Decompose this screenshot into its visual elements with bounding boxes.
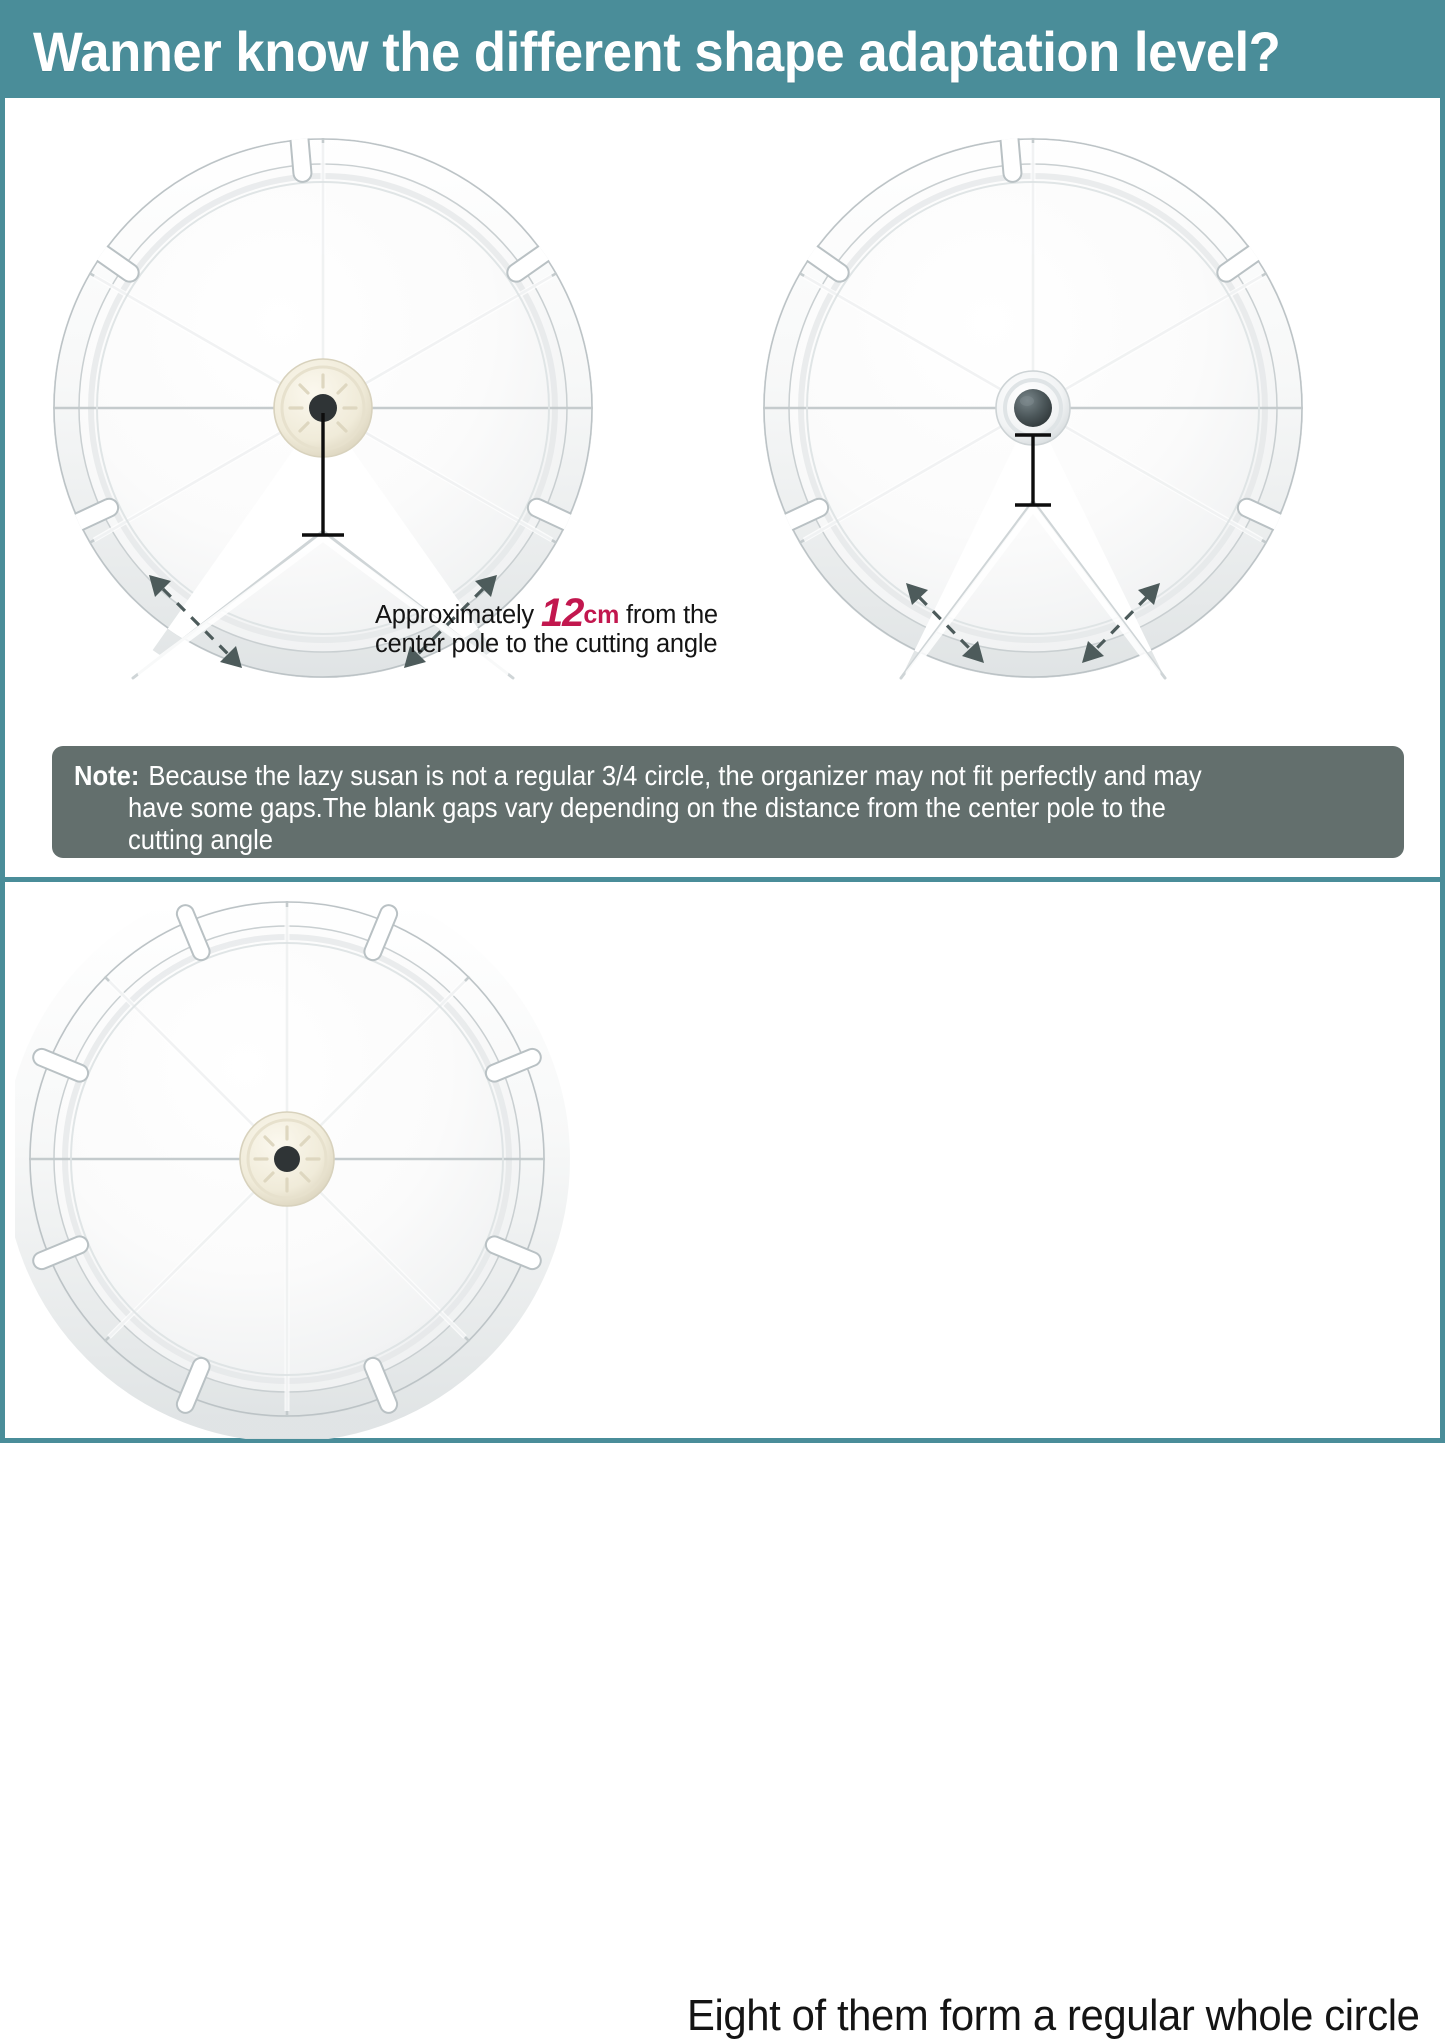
center-pole-hole: [1014, 389, 1052, 427]
note-line-1: Because the lazy susan is not a regular …: [146, 760, 1201, 791]
panel-6cm: Approximately 6cm from the center pole t…: [723, 113, 1433, 713]
lazy-susan-full-circle-illustration: [15, 887, 715, 1439]
panel-12cm: Approximately 12cm from the center pole …: [23, 113, 703, 713]
note-label: Note:: [74, 760, 139, 791]
section-divider: [5, 877, 1440, 882]
dimension-label-12cm: Approximately 12cm from the center pole …: [375, 594, 718, 658]
note-line-2: have some gaps.The blank gaps vary depen…: [128, 792, 1166, 823]
dim-suffix1-12cm: from the: [626, 601, 718, 629]
center-hub: [240, 1112, 334, 1206]
page-title: Wanner know the different shape adaptati…: [33, 19, 1280, 84]
center-pole-hole: [274, 1146, 300, 1172]
header-banner: Wanner know the different shape adaptati…: [5, 5, 1440, 98]
infographic-page: Wanner know the different shape adaptati…: [0, 0, 1445, 1443]
dim-prefix-12cm: Approximately: [375, 601, 534, 629]
dim-unit-12cm: cm: [583, 601, 619, 629]
full-circle-caption: Eight of them form a regular whole circl…: [687, 1991, 1419, 2041]
dimension-line-6cm: [1015, 435, 1051, 505]
dim-value-12cm: 12: [541, 591, 584, 635]
note-banner: Note: Because the lazy susan is not a re…: [52, 746, 1404, 858]
lazy-susan-6cm-illustration: [723, 113, 1433, 713]
note-line-3: cutting angle: [128, 824, 273, 855]
panel-full-circle: Eight of them form a regular whole circl…: [15, 887, 1435, 1439]
